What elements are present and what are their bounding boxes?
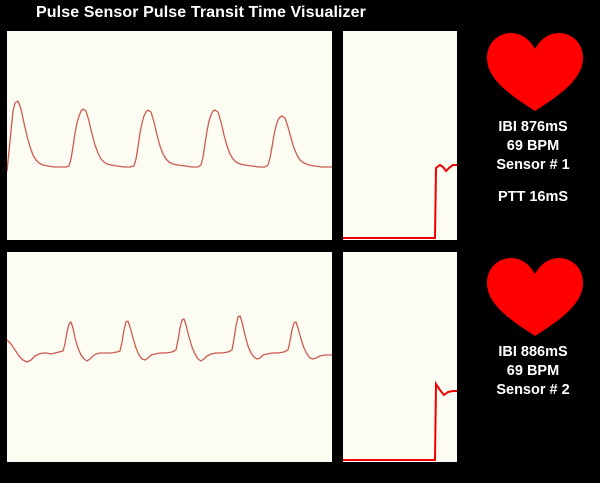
- sensor-2-waveform-chart: [7, 252, 332, 462]
- sensor-1-waveform-panel: [7, 31, 332, 240]
- sensor-2-waveform-panel: [7, 252, 332, 462]
- sensor-2-history-trace: [343, 384, 457, 460]
- sensor-1-waveform-chart: [7, 31, 332, 240]
- readout-spacer: [466, 175, 600, 188]
- heart-icon: [484, 31, 586, 111]
- heart-icon: [484, 256, 586, 336]
- sensor-2-bpm-value: 69 BPM: [466, 362, 600, 381]
- visualizer-app: Pulse Sensor Pulse Transit Time Visualiz…: [0, 0, 600, 483]
- ptt-value: PTT 16mS: [466, 188, 600, 207]
- sensor-2-ibi-value: IBI 886mS: [466, 343, 600, 362]
- sensor-1-ibi-value: IBI 876mS: [466, 118, 600, 137]
- sensor-2-label: Sensor # 2: [466, 381, 600, 400]
- sensor-1-readout: IBI 876mS 69 BPM Sensor # 1 PTT 16mS: [466, 118, 600, 207]
- sensor-2-history-panel: [343, 252, 457, 462]
- sensor-2-readout: IBI 886mS 69 BPM Sensor # 2: [466, 343, 600, 400]
- sensor-1-history-chart: [343, 31, 457, 240]
- sensor-2-waveform-trace: [7, 316, 332, 362]
- sensor-1-waveform-trace: [7, 101, 332, 171]
- sensor-1-label: Sensor # 1: [466, 156, 600, 175]
- heart-icon-glyph: [484, 31, 586, 111]
- page-title: Pulse Sensor Pulse Transit Time Visualiz…: [36, 3, 366, 23]
- heart-icon-glyph: [484, 256, 586, 336]
- sensor-1-history-trace: [343, 165, 457, 238]
- sensor-1-history-panel: [343, 31, 457, 240]
- sensor-1-bpm-value: 69 BPM: [466, 137, 600, 156]
- sensor-2-history-chart: [343, 252, 457, 462]
